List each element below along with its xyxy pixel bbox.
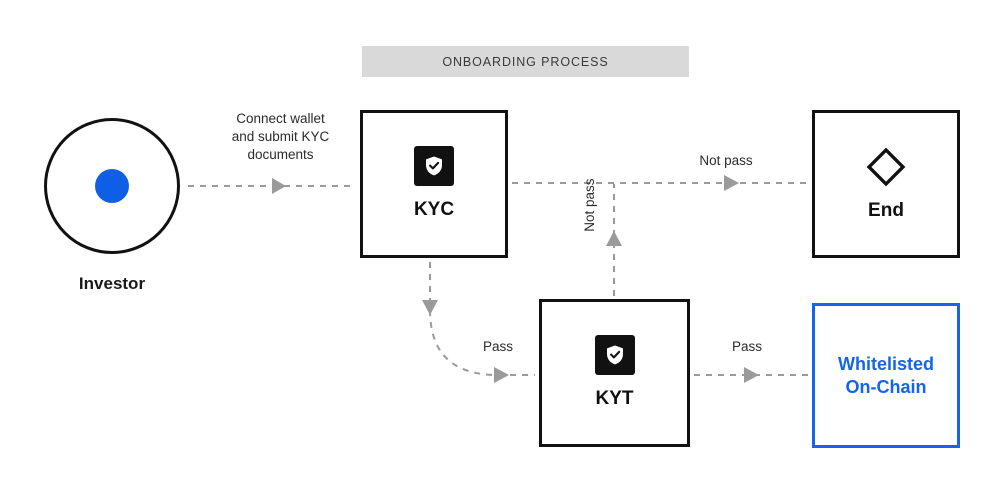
arrowhead-investor-to-kyc bbox=[272, 178, 286, 194]
node-whitelisted-on-chain[interactable]: Whitelisted On-Chain bbox=[812, 303, 960, 448]
node-kyc-label: KYC bbox=[414, 198, 454, 222]
node-whitelisted-label-line1: Whitelisted bbox=[838, 353, 934, 376]
edge-label-kyt-to-whitelisted: Pass bbox=[697, 338, 797, 356]
node-whitelisted-label-line2: On-Chain bbox=[846, 376, 927, 399]
arrowhead-kyt-to-end bbox=[606, 231, 622, 246]
node-kyt[interactable]: KYT bbox=[539, 299, 690, 447]
shield-check-icon bbox=[595, 335, 635, 375]
arrowhead-kyc-to-kyt-down bbox=[422, 300, 438, 315]
arrowhead-kyc-to-kyt-right bbox=[494, 367, 509, 383]
edge-label-kyt-to-end: Not pass bbox=[581, 160, 599, 250]
node-end[interactable]: End bbox=[812, 110, 960, 258]
edge-label-kyc-to-kyt: Pass bbox=[452, 338, 544, 356]
flowchart-canvas: ONBOARDING PROCESS Investor KYC bbox=[0, 0, 1000, 489]
node-investor-label: Investor bbox=[22, 274, 202, 294]
node-kyc[interactable]: KYC bbox=[360, 110, 508, 258]
arrowhead-kyt-to-whitelisted bbox=[744, 367, 759, 383]
edge-label-kyc-to-end: Not pass bbox=[666, 152, 786, 170]
shield-check-icon bbox=[414, 146, 454, 186]
node-investor[interactable] bbox=[44, 118, 180, 254]
node-kyt-label: KYT bbox=[596, 387, 634, 411]
arrowhead-kyc-to-end bbox=[724, 175, 739, 191]
node-end-label: End bbox=[868, 199, 904, 223]
edge-kyc-to-kyt bbox=[430, 262, 535, 375]
filled-circle-dot-icon bbox=[95, 169, 129, 203]
edge-label-investor-to-kyc: Connect wallet and submit KYC documents bbox=[203, 110, 358, 165]
diamond-outline-icon bbox=[864, 145, 908, 189]
